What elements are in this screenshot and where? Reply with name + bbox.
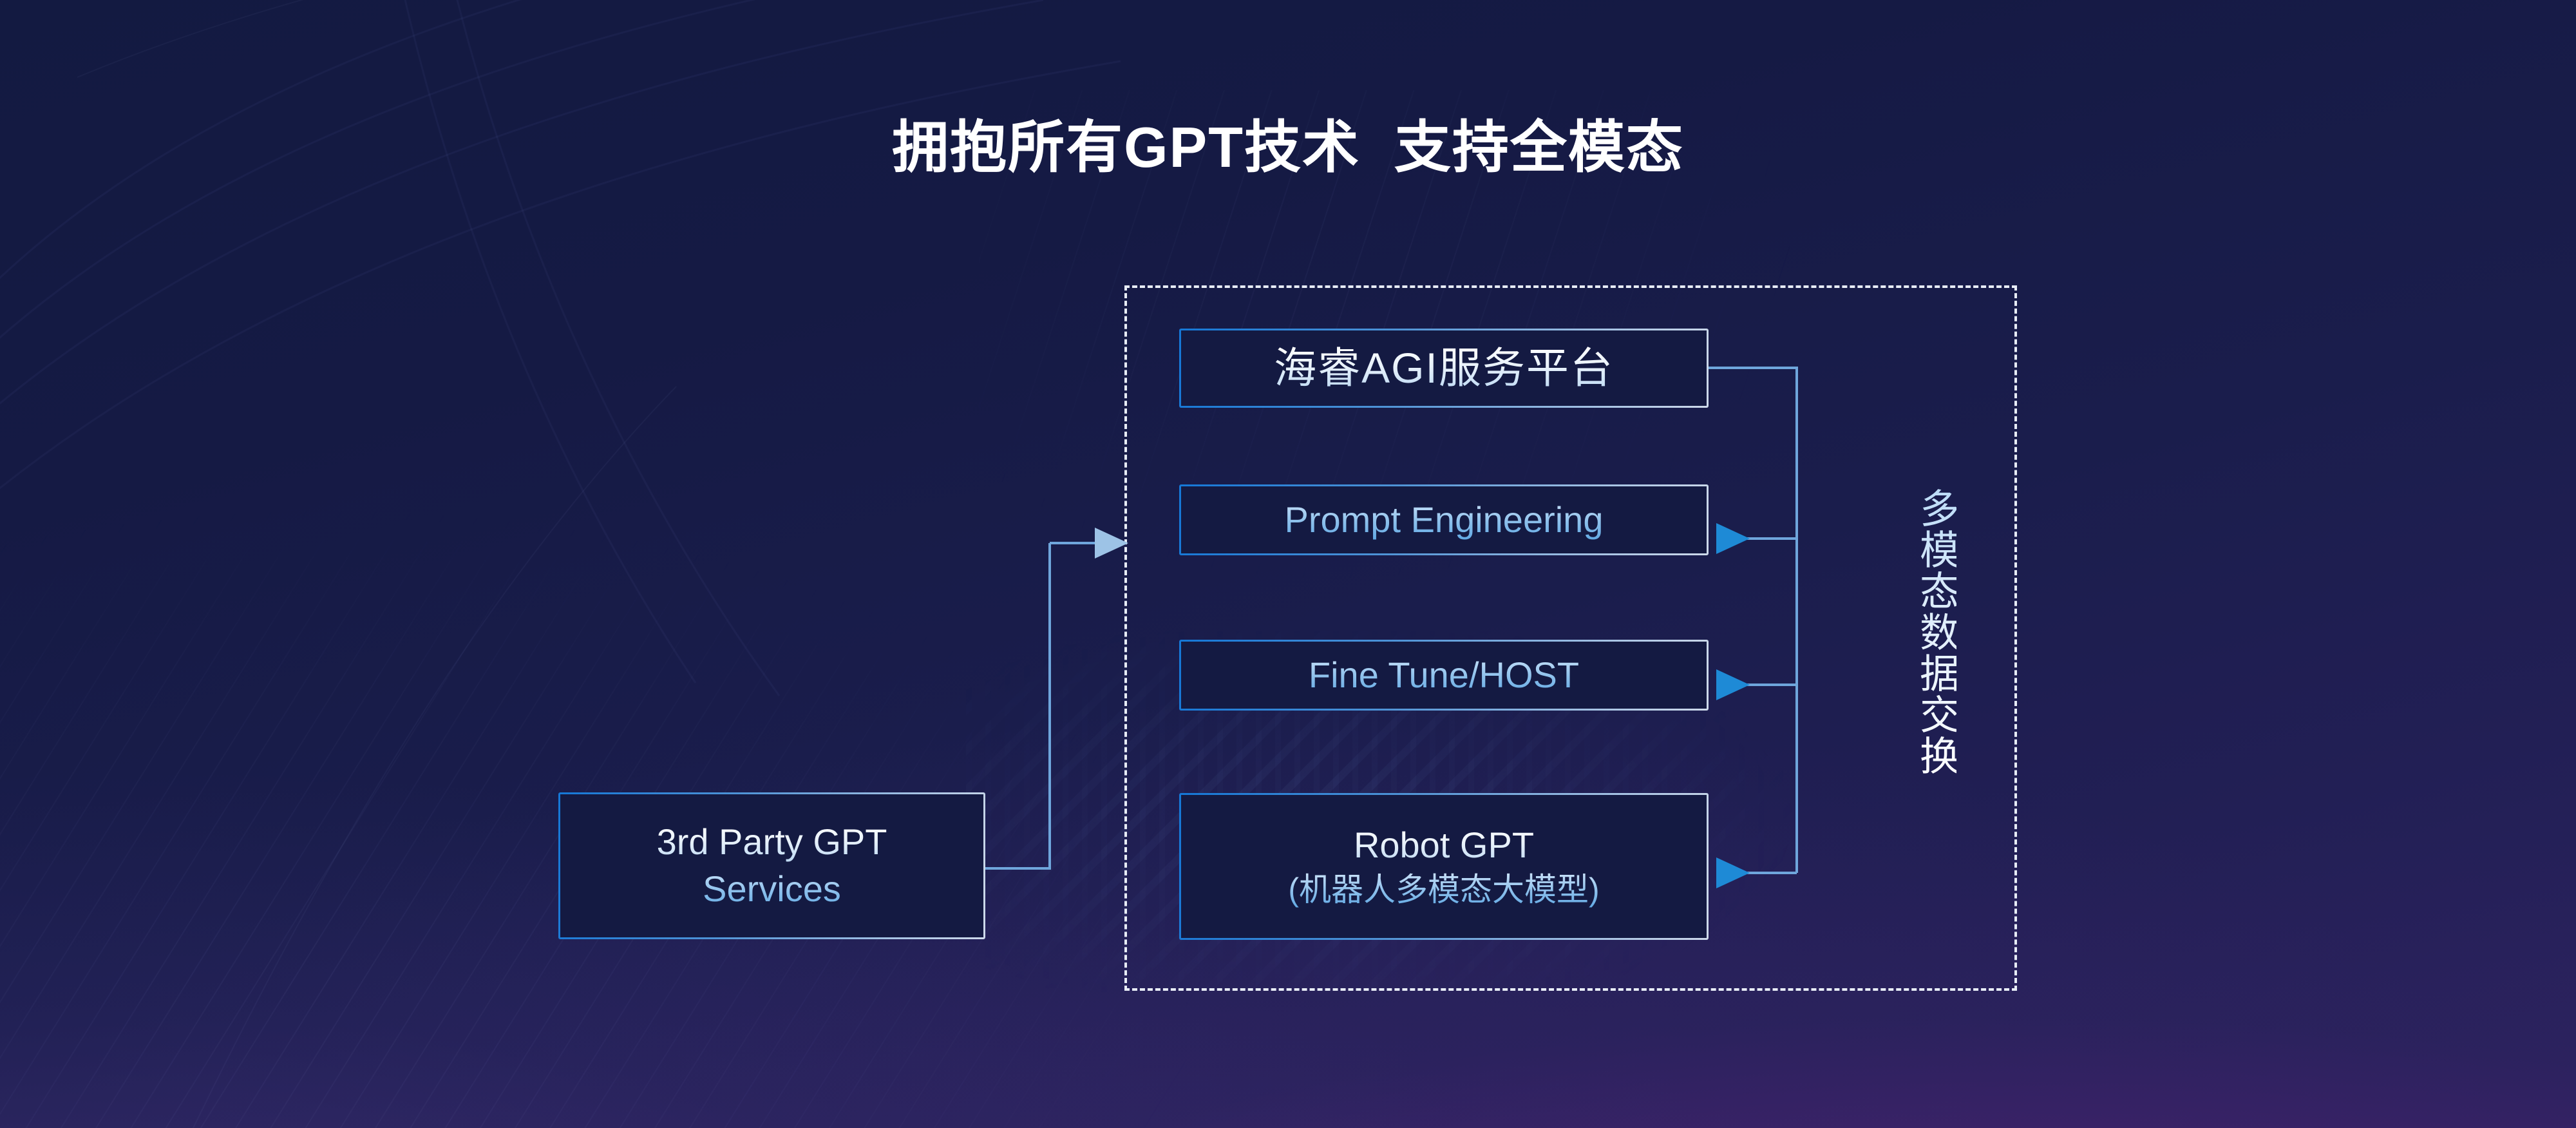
connector-layer [0, 0, 2576, 1128]
card-agi-platform[interactable]: 海睿AGI服务平台 [1179, 329, 1709, 408]
connector-agi-to-prompt [1709, 368, 1797, 539]
card-prompt-engineering[interactable]: Prompt Engineering [1179, 484, 1709, 555]
card-robot-gpt-title: Robot GPT [1354, 825, 1534, 866]
card-fine-tune-host-label: Fine Tune/HOST [1309, 655, 1579, 696]
card-third-party-gpt[interactable]: 3rd Party GPT Services [558, 792, 985, 939]
card-fine-tune-host[interactable]: Fine Tune/HOST [1179, 640, 1709, 711]
card-robot-gpt-subtitle: (机器人多模态大模型) [1288, 872, 1599, 908]
vertical-label-data-exchange: 多模态数据交换 [1905, 488, 1956, 784]
card-third-party-gpt-title: 3rd Party GPT [657, 822, 887, 863]
connector-thirdparty-to-platform [985, 543, 1050, 868]
card-agi-platform-label: 海睿AGI服务平台 [1274, 345, 1614, 392]
card-robot-gpt[interactable]: Robot GPT (机器人多模态大模型) [1179, 793, 1709, 940]
card-third-party-gpt-subtitle: Services [703, 869, 841, 910]
card-prompt-engineering-label: Prompt Engineering [1285, 500, 1604, 540]
